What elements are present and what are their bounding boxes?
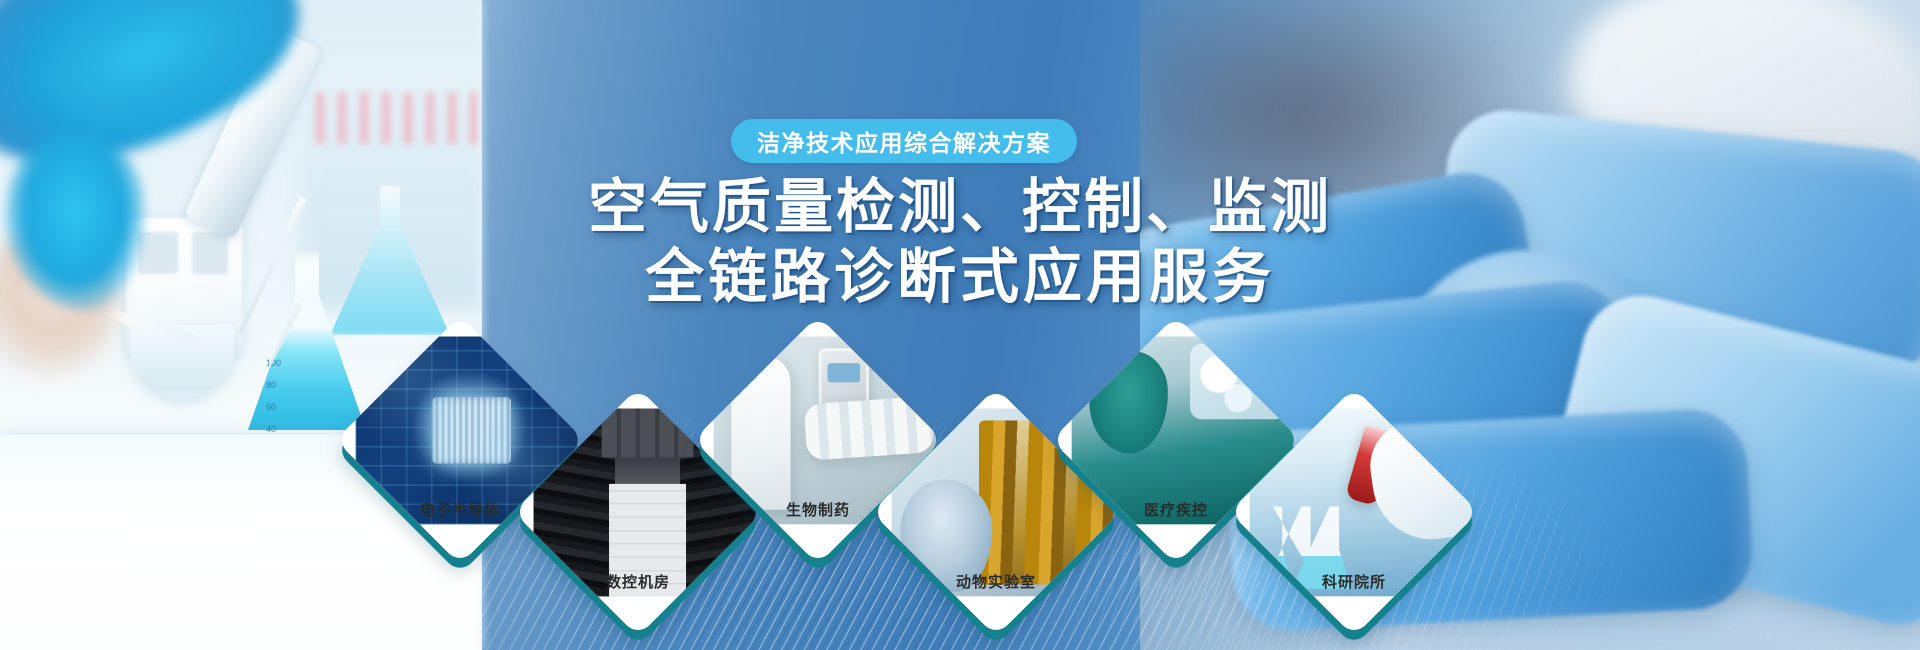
hero-banner: 100 80 60 40 洁净技术应用综合解决方案 空气质量检测、控制、监测 全: [0, 0, 1920, 650]
industry-card-list: 电子半导体 数控机房 生物制药: [0, 0, 1920, 650]
